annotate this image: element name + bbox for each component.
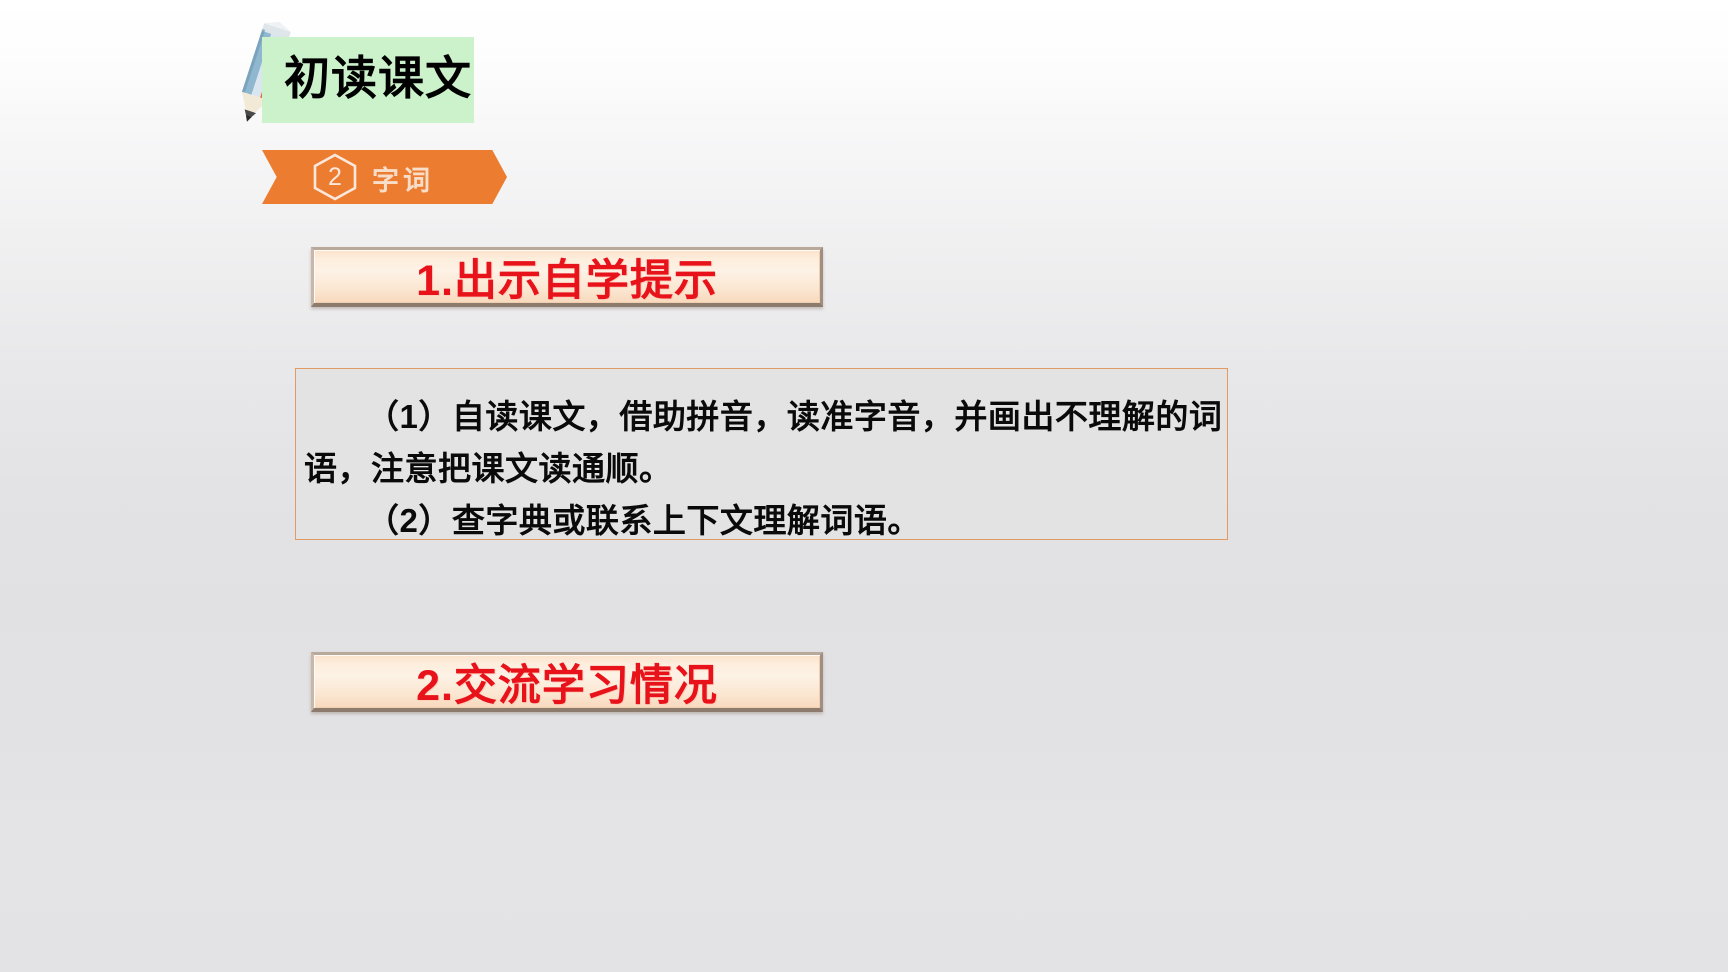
- instruction-line-1: （1）自读课文，借助拼音，读准字音，并画出不理解的词: [304, 391, 1221, 443]
- section-number: 2: [311, 153, 359, 201]
- section-label: 字词: [372, 159, 434, 198]
- page-title: 初读课文: [284, 48, 472, 108]
- heading-plaque-2[interactable]: 2.交流学习情况: [311, 652, 823, 712]
- instruction-line-2: 语，注意把课文读通顺。: [304, 443, 1221, 495]
- heading-plaque-2-label: 2.交流学习情况: [416, 651, 718, 713]
- slide-title-group: 初读课文: [222, 22, 692, 134]
- instruction-line-3: （2）查字典或联系上下文理解词语。: [304, 495, 1221, 547]
- instruction-box: （1）自读课文，借助拼音，读准字音，并画出不理解的词 语，注意把课文读通顺。 （…: [295, 368, 1228, 540]
- heading-plaque-2-inner: 2.交流学习情况: [314, 655, 820, 708]
- heading-plaque-1[interactable]: 1.出示自学提示: [311, 247, 823, 307]
- slide-canvas: 初读课文 2 字词 1.出示自学提示 （1）自读课文，借助拼音，读准字音，并画出…: [0, 0, 1728, 972]
- heading-plaque-1-inner: 1.出示自学提示: [314, 250, 820, 303]
- heading-plaque-1-label: 1.出示自学提示: [416, 246, 718, 308]
- instruction-text-body: （1）自读课文，借助拼音，读准字音，并画出不理解的词 语，注意把课文读通顺。 （…: [296, 391, 1229, 547]
- section-banner: 2 字词: [262, 150, 507, 204]
